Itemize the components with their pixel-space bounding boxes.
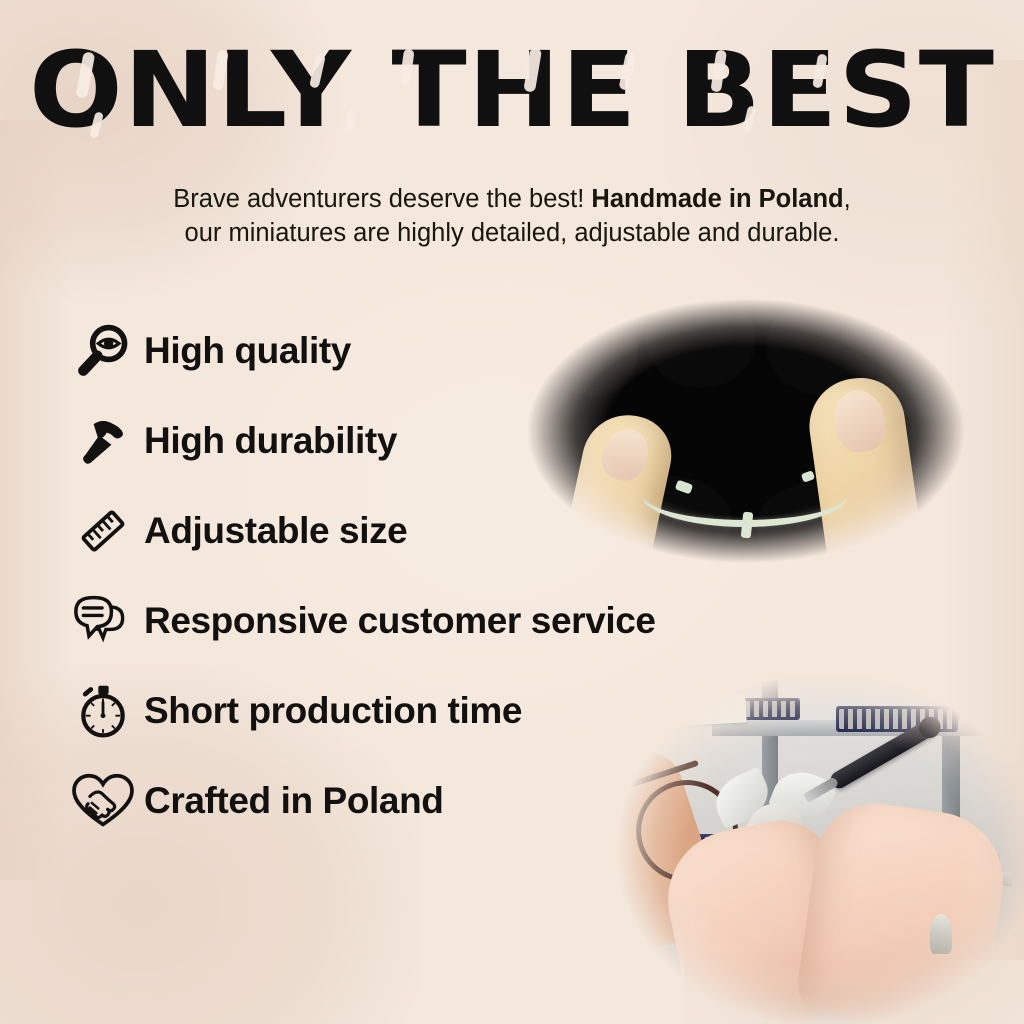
feature-label: High quality bbox=[144, 330, 351, 372]
photo-top-ink-backdrop bbox=[516, 286, 976, 576]
workshop-painting-photo bbox=[612, 676, 1024, 1024]
feature-label: Crafted in Poland bbox=[144, 780, 444, 822]
hand-holding-knife bbox=[794, 796, 1012, 1024]
feature-item-responsive-customer-service: Responsive customer service bbox=[62, 576, 762, 666]
page-title: ONLY THE BEST bbox=[0, 34, 1024, 146]
feature-label: Responsive customer service bbox=[144, 600, 656, 642]
shelf-label-card bbox=[683, 692, 746, 725]
feature-label: High durability bbox=[144, 420, 397, 462]
flexible-miniature-photo bbox=[516, 286, 976, 576]
magnifier-eye-icon bbox=[62, 315, 144, 387]
hammer-icon bbox=[62, 405, 144, 477]
subtitle-highlight: Handmade in Poland bbox=[591, 185, 843, 213]
subtitle-line2: our miniatures are highly detailed, adju… bbox=[185, 219, 840, 247]
stopwatch-icon bbox=[62, 675, 144, 747]
subtitle-line1-tail: , bbox=[844, 185, 851, 213]
standing-miniature bbox=[930, 914, 952, 954]
page-title-text: ONLY THE BEST bbox=[29, 29, 995, 151]
ruler-icon bbox=[62, 495, 144, 567]
feature-label: Adjustable size bbox=[144, 510, 407, 552]
photo-bottom-scene bbox=[612, 676, 1024, 1024]
promo-graphic: ONLY THE BEST Brave adventurers deserve … bbox=[0, 0, 1024, 1024]
feature-label: Short production time bbox=[144, 690, 522, 732]
subtitle-line1-lead: Brave adventurers deserve the best! bbox=[173, 185, 591, 213]
subtitle: Brave adventurers deserve the best! Hand… bbox=[60, 182, 964, 250]
speech-bubbles-icon bbox=[62, 585, 144, 657]
handshake-heart-icon bbox=[62, 765, 144, 837]
